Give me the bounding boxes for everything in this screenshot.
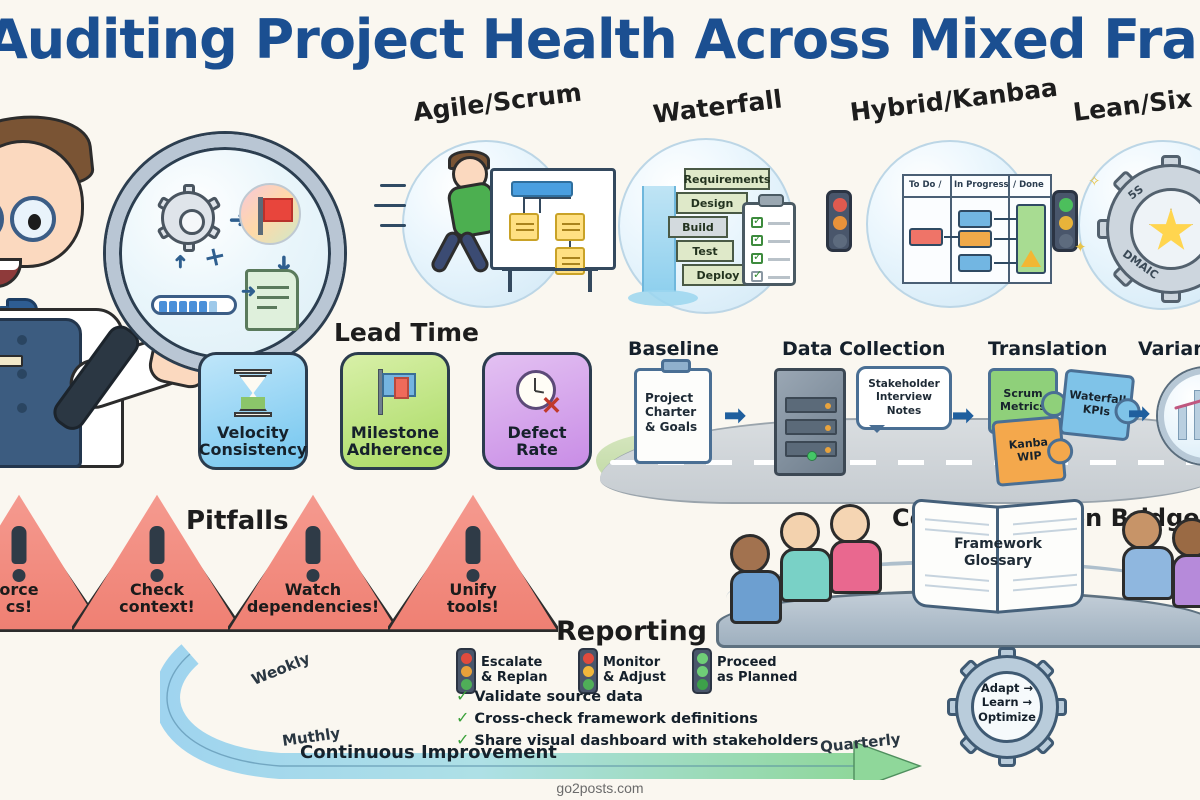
artifact-line: Project bbox=[645, 391, 693, 405]
checklist-clipboard-icon bbox=[742, 202, 796, 286]
red-flag-icon bbox=[239, 183, 301, 245]
page-title: Auditing Project Health Across Mixed Fra… bbox=[0, 8, 1200, 71]
arrow-diagonal-icon: ✕ bbox=[200, 242, 229, 274]
artifact-line: & Goals bbox=[645, 420, 697, 434]
pitfall-line: dependencies! bbox=[247, 597, 379, 616]
framework-label-lean: Lean/Six S bbox=[1071, 80, 1200, 127]
book-line: Framework bbox=[954, 536, 1042, 552]
continuous-improvement-label: Continuous Improvement bbox=[300, 742, 557, 763]
gear-line: Adapt → bbox=[981, 681, 1033, 695]
puzzle-line: Scrum bbox=[1003, 387, 1042, 400]
process-step-label-data-collection: Data Collection bbox=[782, 338, 945, 360]
puzzle-line: KPIs bbox=[1082, 403, 1110, 419]
progress-bar-icon bbox=[151, 295, 237, 315]
metric-label-line2: Consistency bbox=[199, 440, 307, 459]
callout-line: Stakeholder bbox=[868, 378, 940, 390]
person-avatar bbox=[1122, 510, 1174, 600]
waterfall-step: Requirements bbox=[684, 168, 770, 190]
kanban-card bbox=[958, 210, 992, 228]
framework-bubble-agile bbox=[402, 140, 570, 308]
magnifier-lens: ➜ ✕ ➜ ➜ ➜ bbox=[106, 134, 344, 372]
traffic-light-red-icon bbox=[826, 190, 852, 252]
person-avatar bbox=[730, 534, 782, 624]
process-step-label-translation: Translation bbox=[988, 338, 1107, 360]
infographic-canvas: Auditing Project Health Across Mixed Fra… bbox=[0, 0, 1200, 800]
metric-label-line2: Rate bbox=[516, 440, 558, 459]
framework-label-waterfall: Waterfall bbox=[651, 84, 783, 129]
metric-card-milestone-adherence[interactable]: Milestone Adherence bbox=[340, 352, 450, 470]
framework-bubble-lean: ✦ ✧ 5S 5S DMAIC DMA bbox=[1078, 140, 1200, 310]
pitfall-line: cs! bbox=[6, 597, 32, 616]
server-icon bbox=[774, 368, 846, 476]
six-sigma-gear-icon: 5S 5S DMAIC DMA bbox=[1106, 164, 1200, 294]
exclamation-icon bbox=[150, 526, 165, 582]
flow-arrow-icon: ➡ bbox=[724, 400, 746, 431]
adapt-learn-optimize-gear-icon: Adapt → Learn → Optimize bbox=[955, 655, 1059, 759]
pitfall-triangle-watch-dependencies[interactable]: Watch dependencies! bbox=[228, 492, 398, 632]
waterfall-step: Design bbox=[676, 192, 748, 214]
puzzle-piece-kanban-wip: Kanba WIP bbox=[991, 415, 1066, 487]
gear-icon bbox=[161, 191, 215, 245]
sparkle-icon: ✧ bbox=[1088, 172, 1101, 190]
process-step-label-variance: Varianc bbox=[1138, 338, 1200, 360]
framework-bubble-waterfall: Requirements Design Build Test Deploy bbox=[618, 138, 794, 314]
framework-label-agile: Agile/Scrum bbox=[411, 78, 583, 127]
exclamation-icon bbox=[306, 526, 321, 582]
person-avatar bbox=[780, 512, 832, 602]
exclamation-icon bbox=[466, 526, 481, 582]
runner-leg bbox=[429, 229, 464, 275]
exclamation-icon bbox=[12, 526, 27, 582]
framework-bubble-kanban: To Do / In Progress / Done bbox=[866, 140, 1034, 308]
flow-arrow-icon: ➡ bbox=[1128, 398, 1150, 429]
warning-triangle-icon bbox=[1021, 250, 1041, 267]
process-step-label-baseline: Baseline bbox=[628, 338, 719, 360]
pitfall-line: context! bbox=[119, 597, 195, 616]
framework-glossary-book-icon: Framework Glossary bbox=[912, 502, 1084, 614]
watermark: go2posts.com bbox=[0, 780, 1200, 796]
person-avatar bbox=[1172, 518, 1200, 608]
callout-line: Interview bbox=[876, 391, 932, 403]
metric-card-defect-rate[interactable]: ✕ Defect Rate bbox=[482, 352, 592, 470]
arrow-up-icon: ➜ bbox=[170, 254, 191, 269]
artifact-line: Charter bbox=[645, 405, 696, 419]
runner-leg bbox=[457, 229, 492, 275]
kanban-card bbox=[909, 228, 943, 246]
arrow-right-small-icon: ➜ bbox=[241, 281, 256, 302]
waterfall-stream bbox=[642, 186, 676, 292]
puzzle-piece-waterfall-kpis: Waterfall KPIs bbox=[1059, 369, 1136, 442]
kanban-column-header: In Progress bbox=[954, 180, 1009, 190]
puzzle-line: WIP bbox=[1017, 449, 1042, 464]
waterfall-step: Build bbox=[668, 216, 728, 238]
framework-label-kanban: Hybrid/Kanbaa bbox=[848, 73, 1059, 127]
waterfall-pool bbox=[628, 290, 698, 306]
hourglass-icon bbox=[230, 369, 276, 417]
callout-line: Notes bbox=[887, 405, 921, 417]
kanban-board-icon: To Do / In Progress / Done bbox=[902, 174, 1052, 284]
sparkle-icon: ✦ bbox=[1074, 238, 1087, 256]
clock-x-icon: ✕ bbox=[514, 369, 560, 417]
stakeholder-notes-callout: Stakeholder Interview Notes bbox=[856, 366, 952, 430]
glasses-right-icon bbox=[10, 196, 56, 242]
kanban-column-header: / Done bbox=[1013, 180, 1044, 190]
kanban-column-header: To Do / bbox=[909, 180, 941, 190]
metric-card-velocity-consistency[interactable]: Velocity Consistency bbox=[198, 352, 308, 470]
pitfall-triangle-check-context[interactable]: Check context! bbox=[72, 492, 242, 632]
magnifying-glass-icon: ➜ ✕ ➜ ➜ ➜ bbox=[106, 134, 344, 372]
person-avatar bbox=[830, 504, 882, 594]
gear-line: Optimize bbox=[978, 710, 1036, 724]
lead-time-label: Lead Time bbox=[334, 318, 479, 347]
waterfall-step: Test bbox=[676, 240, 734, 262]
kanban-card bbox=[958, 230, 992, 248]
pitfall-line: tools! bbox=[447, 597, 499, 616]
gear-line: Learn → bbox=[982, 695, 1032, 709]
puzzle-line: Metrics bbox=[1000, 400, 1046, 413]
scrum-board-icon bbox=[490, 168, 616, 270]
pitfall-triangle-unify-tools[interactable]: Unify tools! bbox=[388, 492, 558, 632]
metric-label-line2: Adherence bbox=[347, 440, 444, 459]
mouth-shape bbox=[0, 258, 22, 288]
flow-arrow-icon: ➡ bbox=[952, 400, 974, 431]
flag-icon bbox=[372, 369, 418, 417]
clipboard-icon: Project Charter & Goals bbox=[634, 368, 712, 464]
book-line: Glossary bbox=[964, 553, 1032, 569]
kanban-card bbox=[958, 254, 992, 272]
